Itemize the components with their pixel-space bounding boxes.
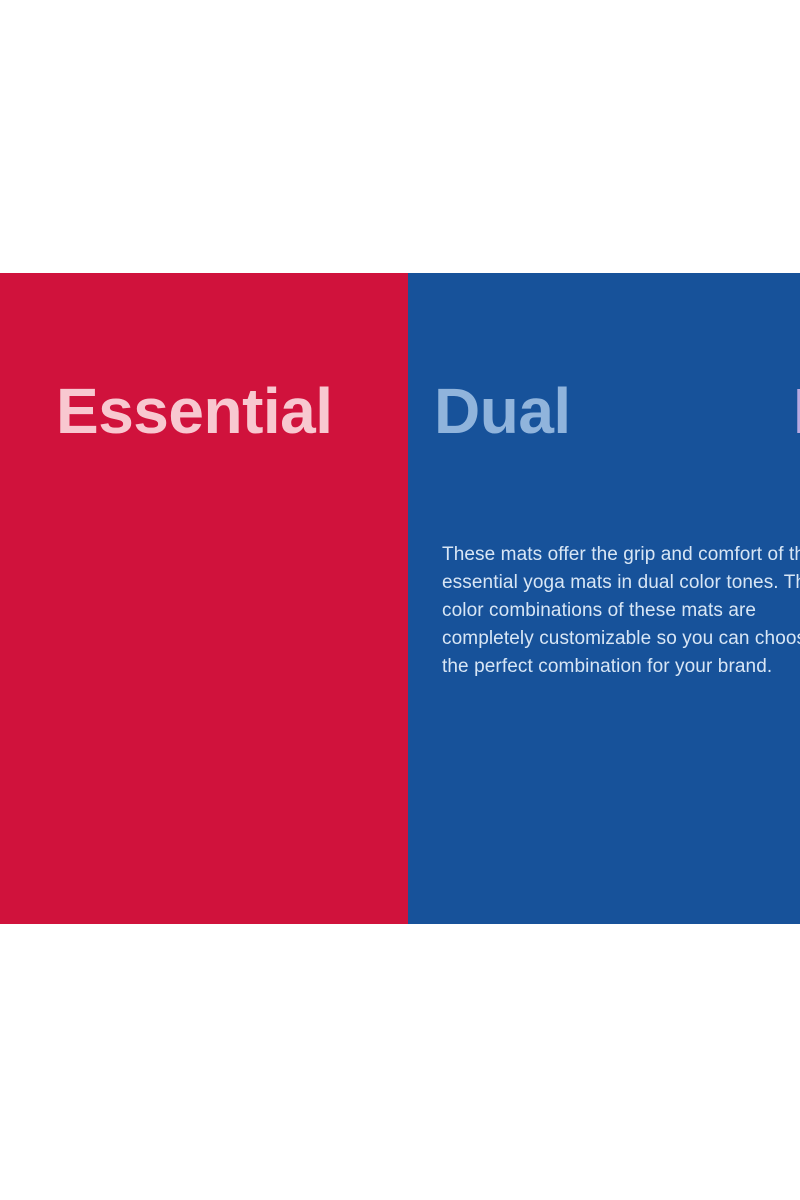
heading-clipped-third: P [793, 379, 800, 443]
heading-essential: Essential [56, 379, 333, 443]
panel-essential: Essential [0, 273, 408, 924]
page-canvas: Essential Dual These mats offer the grip… [0, 0, 800, 1200]
dual-description-text: These mats offer the grip and comfort of… [442, 541, 800, 681]
heading-dual: Dual [434, 379, 571, 443]
panel-dual: Dual These mats offer the grip and comfo… [408, 273, 800, 924]
dual-color-banner: Essential Dual These mats offer the grip… [0, 273, 800, 924]
